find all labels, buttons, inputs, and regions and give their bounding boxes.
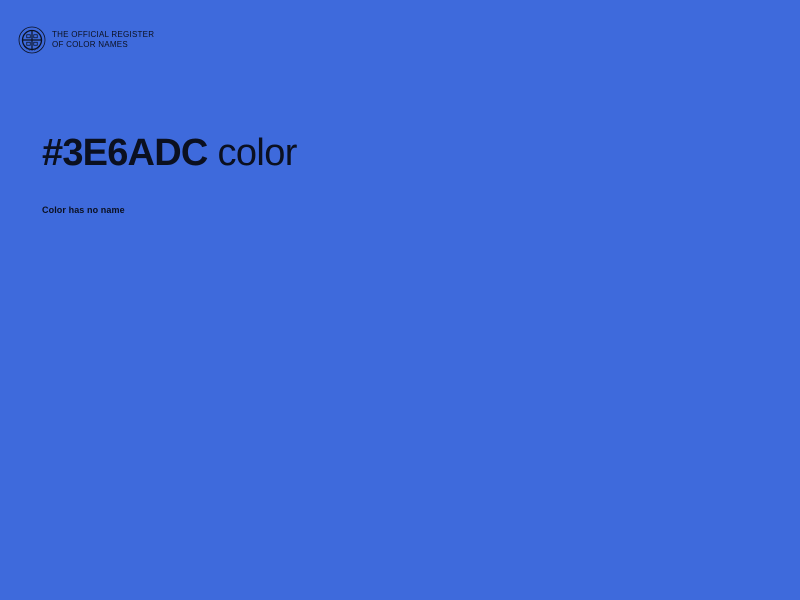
color-name-status: Color has no name — [42, 176, 742, 216]
register-seal-icon-svg — [18, 26, 46, 54]
main-content: #3E6ADC color Color has no name — [42, 130, 742, 216]
brand-wordmark-line-1: THE OFFICIAL REGISTER — [52, 30, 154, 40]
page-title-suffix: color — [207, 132, 296, 174]
brand-wordmark: THE OFFICIAL REGISTER OF COLOR NAMES — [52, 30, 154, 50]
page-title: #3E6ADC color — [42, 130, 742, 176]
page-title-hex: #3E6ADC — [42, 132, 207, 174]
brand-header[interactable]: THE OFFICIAL REGISTER OF COLOR NAMES — [18, 26, 154, 54]
register-seal-icon — [18, 26, 46, 54]
brand-wordmark-line-2: OF COLOR NAMES — [52, 40, 154, 50]
color-page: THE OFFICIAL REGISTER OF COLOR NAMES #3E… — [0, 0, 800, 600]
